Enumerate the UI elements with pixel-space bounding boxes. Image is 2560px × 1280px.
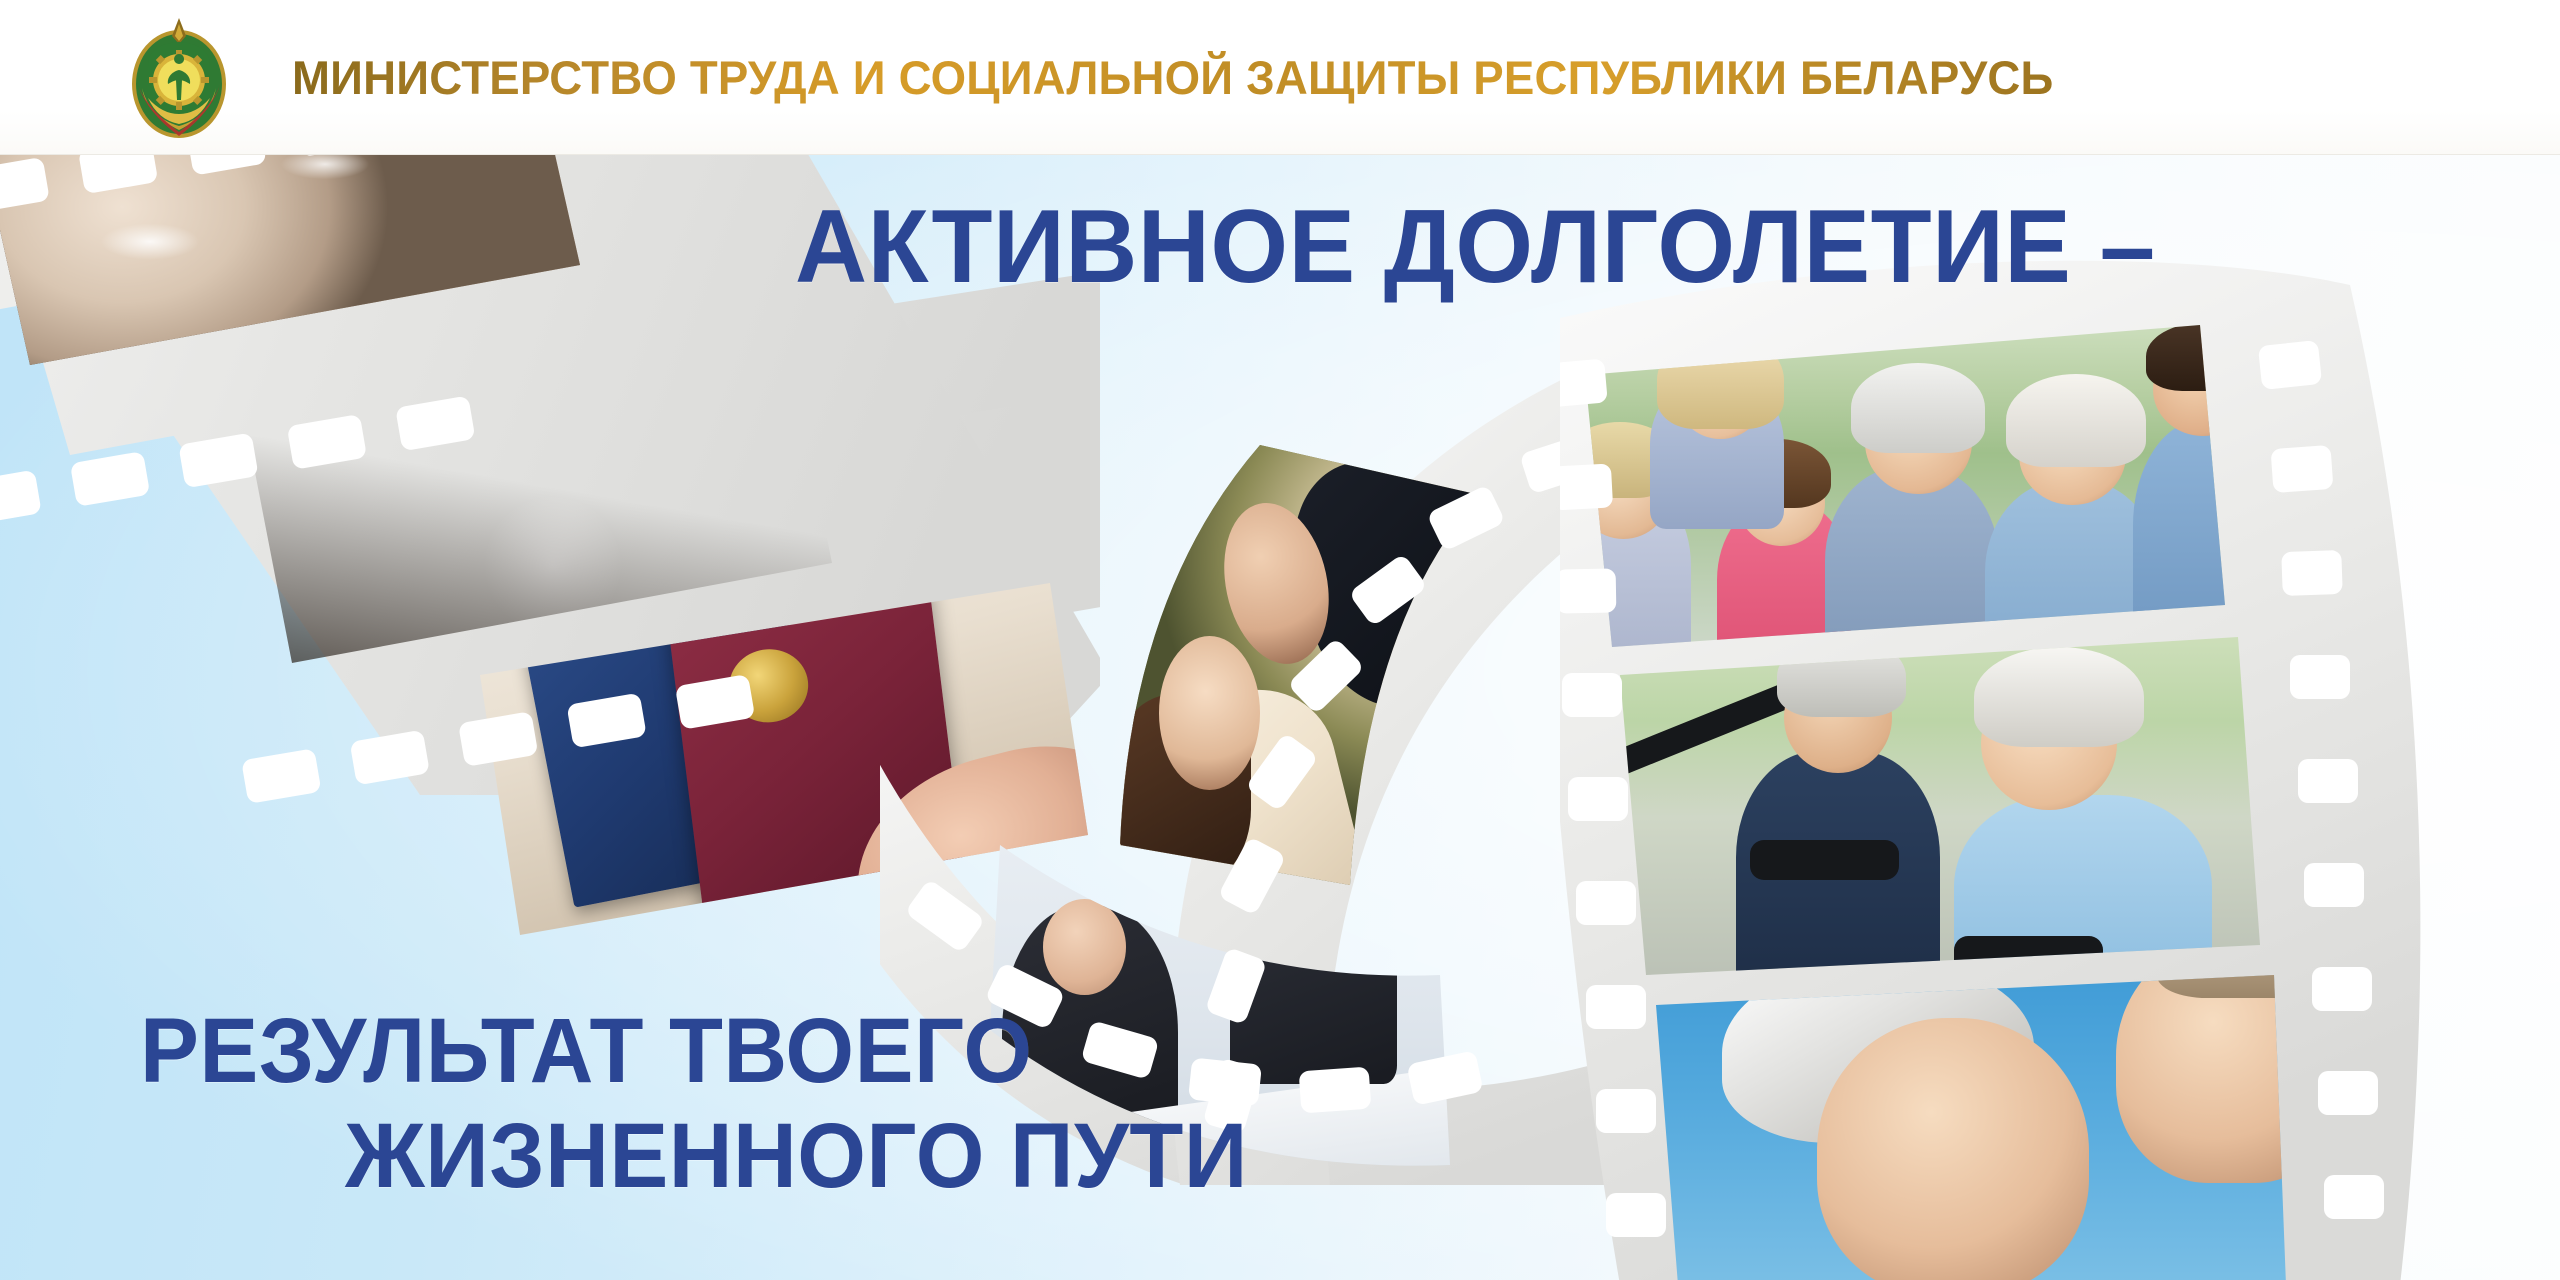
headline-line-3: ЖИЗНЕННОГО ПУТИ	[345, 1110, 1248, 1202]
header-bar: МИНИСТЕРСТВО ТРУДА И СОЦИАЛЬНОЙ ЗАЩИТЫ Р…	[0, 0, 2560, 155]
bride-head	[1159, 636, 1260, 790]
grandmother-hair	[2006, 374, 2147, 467]
filmstrip-right	[1560, 175, 2560, 1280]
dumbbell	[1750, 840, 1900, 881]
elderly-woman-face	[1817, 1018, 2089, 1280]
headline-line-1: АКТИВНОЕ ДОЛГОЛЕТИЕ –	[795, 195, 2156, 299]
grandfather-hair	[1851, 363, 1985, 453]
filmstrip-frame-elderly-couple	[1640, 965, 2320, 1280]
headline-line-2: РЕЗУЛЬТАТ ТВОЕГО	[140, 1005, 1033, 1097]
header-title: МИНИСТЕРСТВО ТРУДА И СОЦИАЛЬНОЙ ЗАЩИТЫ Р…	[292, 0, 2053, 155]
filmstrip-frame-gym	[1600, 625, 2280, 995]
person-head	[1043, 899, 1126, 995]
banner-stage: АКТИВНОЕ ДОЛГОЛЕТИЕ – РЕЗУЛЬТАТ ТВОЕГО Ж…	[0, 155, 2560, 1280]
ministry-emblem-icon	[124, 14, 234, 140]
senior-woman-hair	[1974, 647, 2144, 747]
banner-root: МИНИСТЕРСТВО ТРУДА И СОЦИАЛЬНОЙ ЗАЩИТЫ Р…	[0, 0, 2560, 1280]
